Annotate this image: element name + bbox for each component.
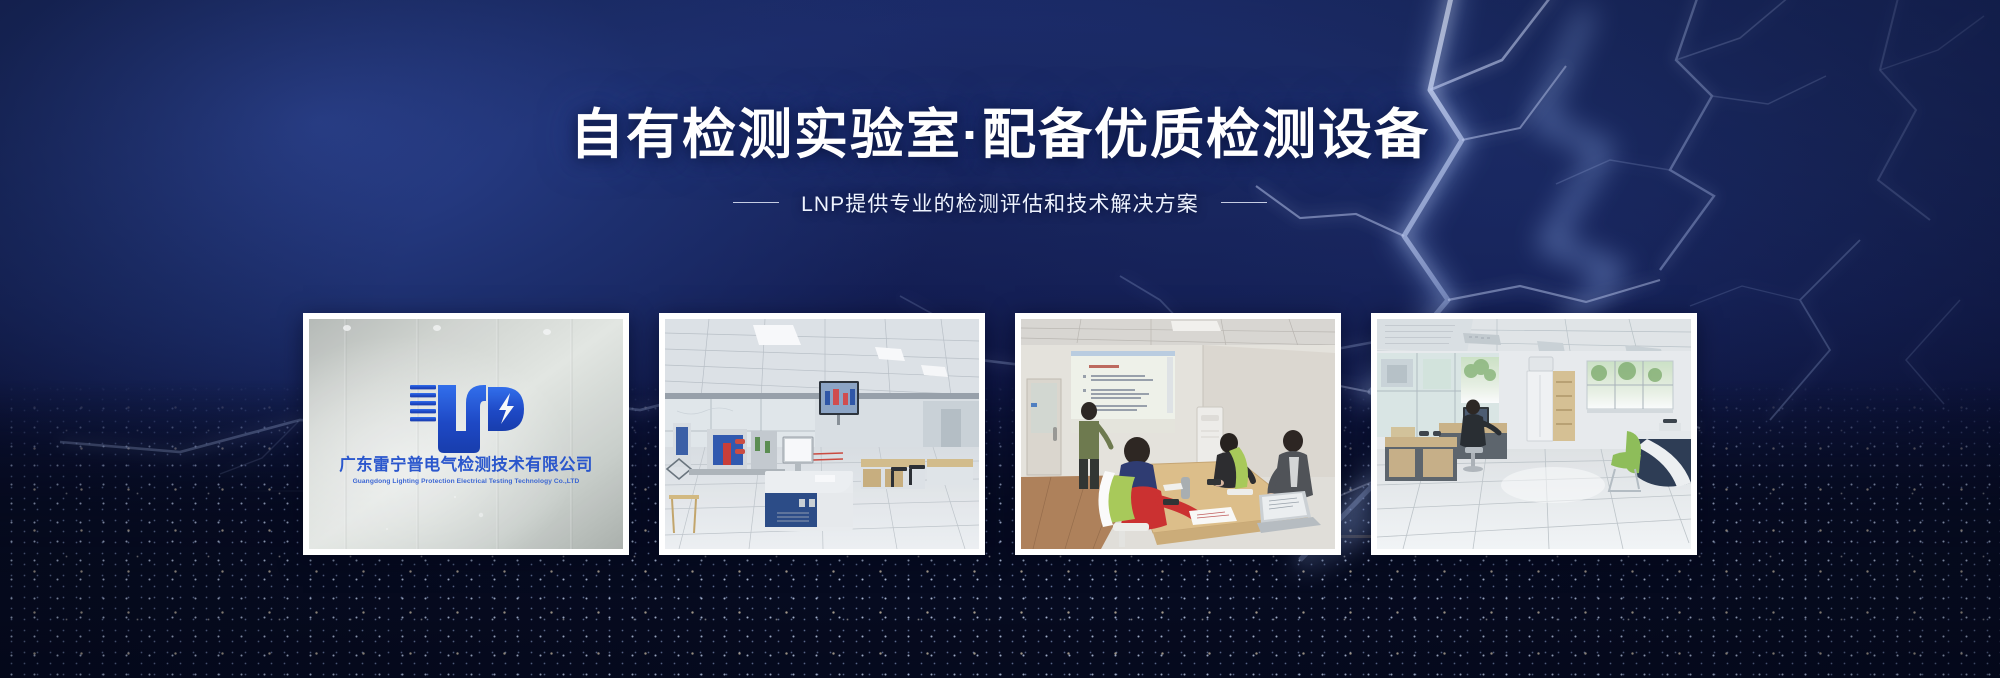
photo-gallery: 广东雷宁普电气检测技术有限公司 Guangdong Lighting Prote…	[303, 313, 1697, 555]
page-title: 自有检测实验室·配备优质检测设备	[0, 104, 2000, 168]
photo-testing-laboratory	[665, 319, 979, 549]
subtitle-rule-right	[1221, 202, 1267, 203]
subtitle-row: LNP提供专业的检测评估和技术解决方案	[0, 188, 2000, 218]
photo-office-area	[1377, 319, 1691, 549]
page-subtitle: LNP提供专业的检测评估和技术解决方案	[801, 188, 1199, 218]
photo-meeting-room-training	[1021, 319, 1335, 549]
hero-banner: 自有检测实验室·配备优质检测设备 LNP提供专业的检测评估和技术解决方案	[0, 0, 2000, 678]
headline-block: 自有检测实验室·配备优质检测设备 LNP提供专业的检测评估和技术解决方案	[0, 104, 2000, 218]
gallery-card-company-signboard[interactable]: 广东雷宁普电气检测技术有限公司 Guangdong Lighting Prote…	[303, 313, 629, 555]
gallery-card-testing-laboratory[interactable]	[659, 313, 985, 555]
gallery-card-meeting-room-training[interactable]	[1015, 313, 1341, 555]
photo-company-signboard: 广东雷宁普电气检测技术有限公司 Guangdong Lighting Prote…	[309, 319, 623, 549]
gallery-card-office-area[interactable]	[1371, 313, 1697, 555]
subtitle-rule-left	[733, 202, 779, 203]
